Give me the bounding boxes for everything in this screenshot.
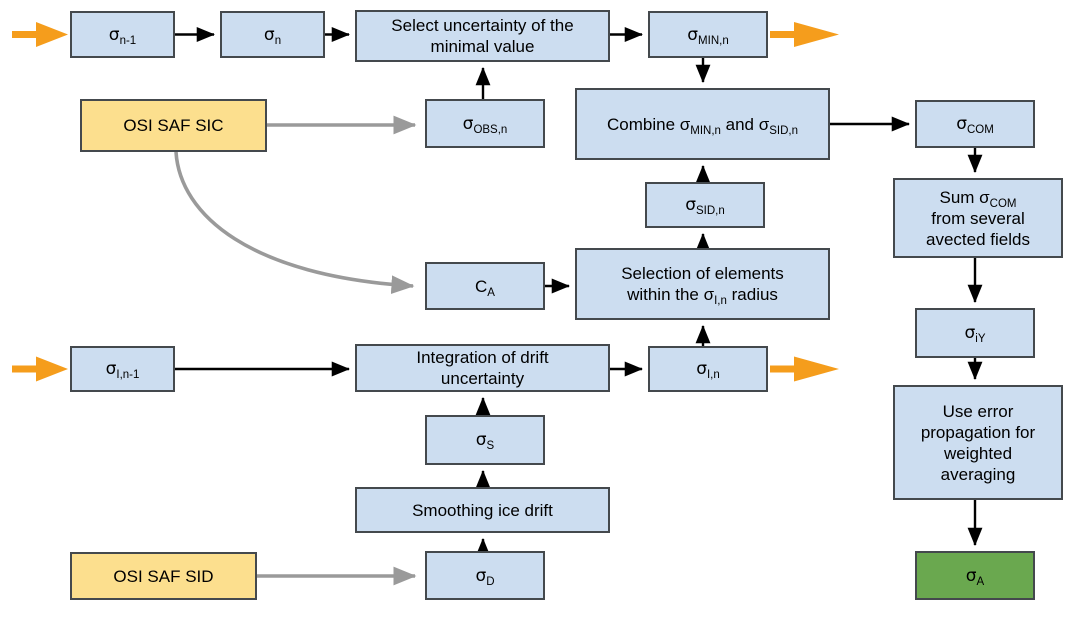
sum-line-1-subscript: COM [990, 198, 1017, 210]
node-osi-saf-sid[interactable]: OSI SAF SID [70, 552, 257, 600]
node-sigma-s[interactable]: σS [425, 415, 545, 465]
combine-prefix: Combine σ [607, 115, 690, 134]
sigma-subscript: I,n [707, 369, 720, 381]
node-sigma-i-n-minus-1[interactable]: σI,n-1 [70, 346, 175, 392]
selection-line-2-prefix: within the σ [627, 285, 714, 304]
sum-line-2: from several [931, 209, 1025, 228]
sigma-glyph: σ [685, 195, 696, 215]
node-sigma-a-output[interactable]: σA [915, 551, 1035, 600]
select-line-2: minimal value [431, 37, 535, 56]
sigma-subscript: n-1 [120, 35, 137, 47]
selection-line-1: Selection of elements [621, 264, 784, 283]
node-sigma-obs-n[interactable]: σOBS,n [425, 99, 545, 148]
sigma-glyph: σ [964, 323, 975, 343]
sigma-glyph: σ [966, 566, 977, 586]
c-subscript: A [487, 287, 495, 299]
node-osi-saf-sic[interactable]: OSI SAF SIC [80, 99, 267, 152]
smoothing-label: Smoothing ice drift [361, 500, 604, 521]
error-line-4: averaging [941, 465, 1016, 484]
sigma-glyph: σ [696, 359, 707, 379]
sigma-glyph: σ [109, 25, 120, 45]
node-selection-of-elements[interactable]: Selection of elements within the σI,n ra… [575, 248, 830, 320]
sigma-glyph: σ [475, 566, 486, 586]
sigma-subscript: n [275, 35, 281, 47]
node-select-minimal-uncertainty[interactable]: Select uncertainty of the minimal value [355, 10, 610, 62]
node-sigma-i-n[interactable]: σI,n [648, 346, 768, 392]
selection-line-2-suffix: radius [727, 285, 778, 304]
carry-arrow-top-out [770, 22, 839, 47]
sigma-subscript: iY [975, 333, 985, 345]
carry-arrow-mid-in [12, 357, 68, 382]
osi-saf-sid-label: OSI SAF SID [76, 566, 251, 587]
node-sigma-sid-n[interactable]: σSID,n [645, 182, 765, 228]
node-c-a[interactable]: CA [425, 262, 545, 310]
node-integration-of-drift-uncertainty[interactable]: Integration of drift uncertainty [355, 344, 610, 392]
sum-line-1-prefix: Sum σ [939, 188, 989, 207]
sigma-subscript: COM [967, 124, 994, 136]
carry-arrow-top-in [12, 22, 68, 47]
error-line-3: weighted [944, 444, 1012, 463]
error-line-1: Use error [943, 402, 1014, 421]
node-smoothing-ice-drift[interactable]: Smoothing ice drift [355, 487, 610, 533]
flowchart-canvas: σn-1 σn Select uncertainty of the minima… [0, 0, 1081, 617]
sigma-glyph: σ [956, 114, 967, 134]
combine-subscript-1: MIN,n [690, 125, 721, 137]
select-line-1: Select uncertainty of the [391, 16, 573, 35]
osi-saf-sic-label: OSI SAF SIC [86, 115, 261, 136]
integration-line-1: Integration of drift [416, 348, 548, 367]
combine-subscript-2: SID,n [769, 125, 798, 137]
node-sigma-com[interactable]: σCOM [915, 100, 1035, 148]
node-use-error-propagation[interactable]: Use error propagation for weighted avera… [893, 385, 1063, 500]
node-sigma-iy[interactable]: σiY [915, 308, 1035, 358]
node-sigma-min-n[interactable]: σMIN,n [648, 11, 768, 58]
sigma-glyph: σ [476, 430, 487, 450]
sigma-glyph: σ [264, 25, 275, 45]
sigma-glyph: σ [463, 114, 474, 134]
sigma-subscript: MIN,n [698, 35, 729, 47]
sigma-subscript: SID,n [696, 205, 725, 217]
edge-sic-to-ca-curve [176, 152, 413, 286]
selection-line-2-subscript: I,n [714, 295, 727, 307]
sigma-glyph: σ [106, 359, 117, 379]
carry-arrow-mid-out [770, 357, 839, 382]
node-sigma-n-minus-1[interactable]: σn-1 [70, 11, 175, 58]
sigma-glyph: σ [687, 25, 698, 45]
node-sigma-d[interactable]: σD [425, 551, 545, 600]
node-combine-min-and-sid[interactable]: Combine σMIN,n and σSID,n [575, 88, 830, 160]
sigma-subscript: S [487, 440, 495, 452]
sigma-subscript: A [977, 576, 985, 588]
sigma-subscript: I,n-1 [116, 369, 139, 381]
node-sum-sigma-com[interactable]: Sum σCOM from several avected fields [893, 178, 1063, 258]
error-line-2: propagation for [921, 423, 1035, 442]
sigma-subscript: OBS,n [473, 124, 507, 136]
combine-middle: and σ [721, 115, 769, 134]
sum-line-3: avected fields [926, 230, 1030, 249]
c-glyph: C [475, 277, 487, 296]
sigma-subscript: D [486, 576, 494, 588]
integration-line-2: uncertainty [441, 369, 524, 388]
node-sigma-n[interactable]: σn [220, 11, 325, 58]
